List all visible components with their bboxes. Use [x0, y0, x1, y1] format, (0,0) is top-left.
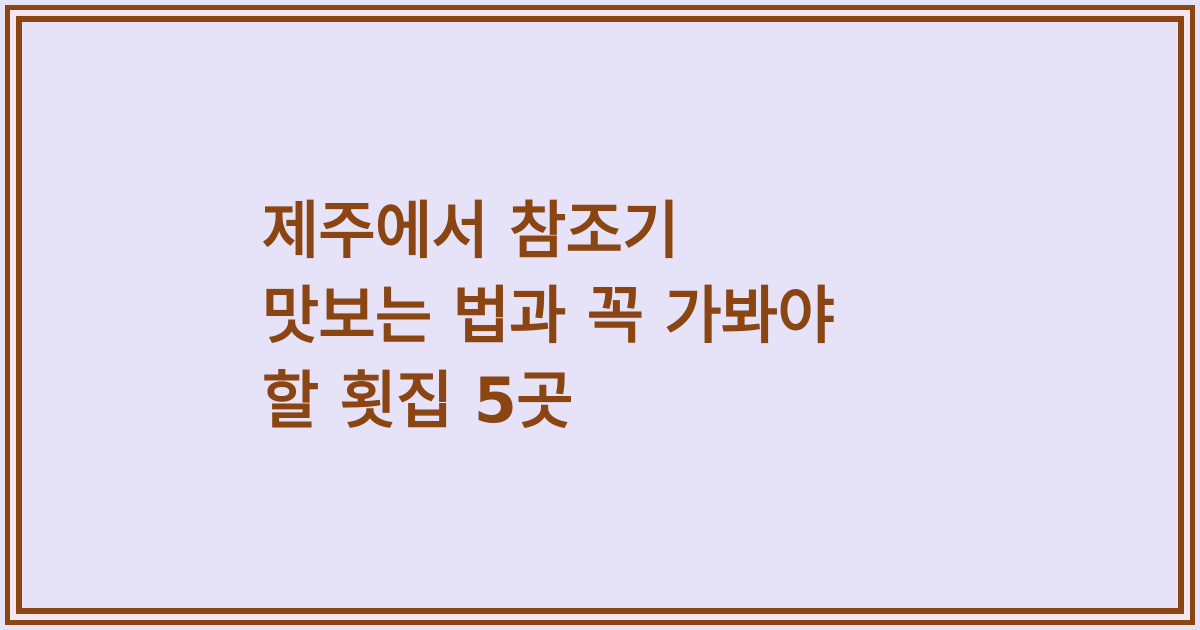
page-title: 제주에서 참조기 맛보는 법과 꼭 가봐야 할 횟집 5곳	[262, 188, 834, 443]
thumbnail-card: 제주에서 참조기 맛보는 법과 꼭 가봐야 할 횟집 5곳	[0, 0, 1200, 630]
card-content: 제주에서 참조기 맛보는 법과 꼭 가봐야 할 횟집 5곳	[22, 22, 1178, 608]
